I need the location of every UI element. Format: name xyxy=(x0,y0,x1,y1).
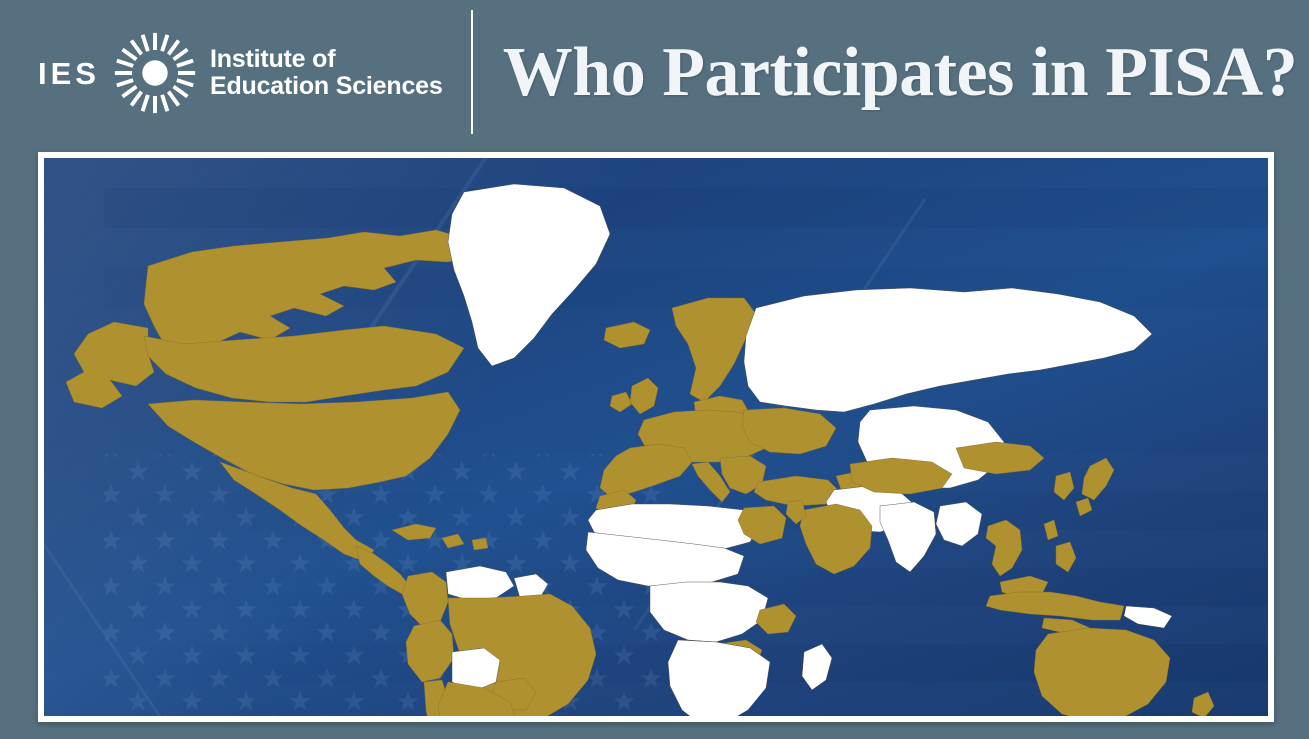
country-india[interactable] xyxy=(880,502,936,572)
ies-organization-name: Institute of Education Sciences xyxy=(210,46,443,100)
country-indonesia[interactable] xyxy=(986,592,1124,634)
page-header: IES xyxy=(0,0,1309,146)
page-title: Who Participates in PISA? xyxy=(500,0,1300,146)
org-name-line2: Education Sciences xyxy=(210,73,443,100)
org-name-line1: Institute of xyxy=(210,46,443,73)
country-united-states[interactable] xyxy=(148,392,460,490)
country-japan[interactable] xyxy=(1076,458,1114,516)
country-central-america[interactable] xyxy=(356,546,410,594)
country-arabian-peninsula[interactable] xyxy=(800,504,872,574)
country-mongolia[interactable] xyxy=(956,442,1044,474)
country-papua-new-guinea[interactable] xyxy=(1124,606,1172,628)
ies-sunburst-icon xyxy=(114,32,196,114)
country-chinese-taipei[interactable] xyxy=(1044,520,1058,540)
map-frame xyxy=(38,152,1274,722)
country-caribbean-islands[interactable] xyxy=(392,524,488,550)
slide-root: IES xyxy=(0,0,1309,739)
country-southern-africa[interactable] xyxy=(668,640,770,716)
ies-brand-lockup: IES xyxy=(38,26,443,120)
country-iceland[interactable] xyxy=(604,322,650,348)
country-southeast-asia-mainland[interactable] xyxy=(936,502,982,546)
country-korea[interactable] xyxy=(1054,472,1074,500)
country-colombia[interactable] xyxy=(402,572,448,628)
country-new-zealand[interactable] xyxy=(1192,692,1226,716)
country-greenland[interactable] xyxy=(448,184,610,366)
country-venezuela[interactable] xyxy=(446,566,514,600)
country-alaska[interactable] xyxy=(66,322,154,408)
world-map[interactable] xyxy=(44,158,1268,716)
country-france-spain-portugal[interactable] xyxy=(600,444,692,498)
country-vietnam-thailand-cambodia[interactable] xyxy=(986,520,1022,576)
country-norway-sweden-finland[interactable] xyxy=(672,298,756,402)
country-australia[interactable] xyxy=(1034,628,1170,716)
country-united-kingdom[interactable] xyxy=(610,378,658,414)
ies-acronym-text: IES xyxy=(38,58,100,89)
country-central-africa[interactable] xyxy=(650,582,768,642)
country-philippines[interactable] xyxy=(1056,542,1076,572)
country-russia[interactable] xyxy=(744,288,1152,412)
country-peru[interactable] xyxy=(406,620,454,682)
world-countries-layer[interactable] xyxy=(44,158,1268,716)
country-madagascar[interactable] xyxy=(802,644,832,690)
header-divider xyxy=(471,10,473,134)
